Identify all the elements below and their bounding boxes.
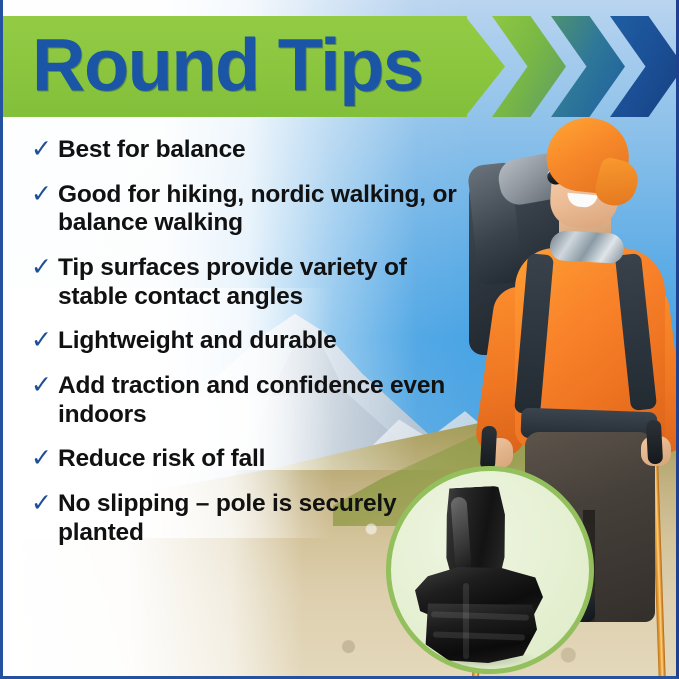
product-inset-circle [386, 466, 594, 674]
pole-grip-right [646, 420, 663, 465]
header-banner: Round Tips [3, 16, 679, 117]
check-icon: ✓ [31, 327, 55, 354]
feature-text: Add traction and confidence even indoors [58, 372, 461, 429]
check-icon: ✓ [31, 445, 55, 472]
feature-text: Tip surfaces provide variety of stable c… [58, 254, 461, 311]
infographic-canvas: Round Tips ✓ Best for balance ✓ Good for… [0, 0, 679, 679]
check-icon: ✓ [31, 490, 55, 517]
list-item: ✓ Good for hiking, nordic walking, or ba… [31, 181, 461, 238]
list-item: ✓ Lightweight and durable [31, 327, 461, 356]
check-icon: ✓ [31, 254, 55, 281]
list-item: ✓ Tip surfaces provide variety of stable… [31, 254, 461, 311]
feature-text: Lightweight and durable [58, 327, 337, 356]
check-icon: ✓ [31, 181, 55, 208]
feature-list: ✓ Best for balance ✓ Good for hiking, no… [31, 136, 461, 547]
list-item: ✓ Reduce risk of fall [31, 445, 461, 474]
check-icon: ✓ [31, 136, 55, 163]
check-icon: ✓ [31, 372, 55, 399]
neck-buff [549, 230, 624, 264]
list-item: ✓ Best for balance [31, 136, 461, 165]
list-item: ✓ Add traction and confidence even indoo… [31, 372, 461, 429]
banner-arrow-point [465, 16, 505, 117]
pole-tip-groove [463, 583, 469, 659]
feature-text: Best for balance [58, 136, 245, 165]
feature-text: Reduce risk of fall [58, 445, 265, 474]
feature-text: Good for hiking, nordic walking, or bala… [58, 181, 461, 238]
pole-grip-left [480, 426, 497, 471]
page-title: Round Tips [32, 28, 423, 102]
